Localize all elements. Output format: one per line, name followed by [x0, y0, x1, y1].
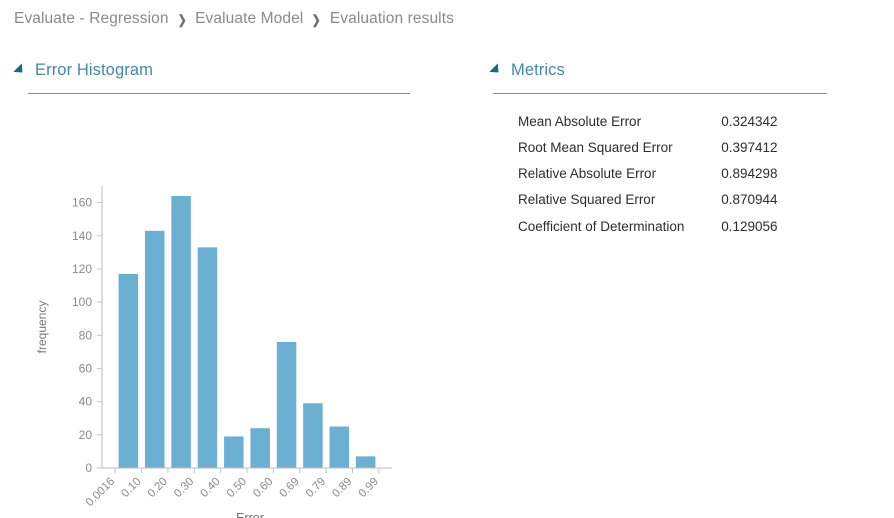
histogram-bar: [145, 231, 165, 468]
histogram-bars: [119, 196, 376, 468]
metrics-row: Relative Absolute Error0.894298: [518, 161, 830, 187]
x-tick-label: 0.0016: [84, 476, 117, 509]
y-tick-label: 20: [79, 428, 93, 442]
error-histogram-chart: frequency 020406080100120140160 0.00160.…: [14, 98, 414, 518]
histogram-bar: [171, 196, 191, 468]
metric-value: 0.129056: [721, 213, 830, 239]
x-tick-label: 0.50: [225, 476, 249, 500]
histogram-bar: [330, 427, 350, 468]
metrics-row: Mean Absolute Error0.324342: [518, 108, 830, 134]
histogram-bar: [250, 428, 270, 468]
error-histogram-header[interactable]: Error Histogram: [14, 58, 414, 82]
metrics-panel: Metrics Mean Absolute Error0.324342Root …: [490, 58, 830, 239]
y-tick-label: 100: [72, 295, 92, 309]
metric-label: Root Mean Squared Error: [518, 134, 721, 160]
x-tick-label: 0.89: [330, 476, 354, 500]
y-tick-label: 60: [79, 361, 93, 375]
breadcrumb: Evaluate - Regression ❯ Evaluate Model ❯…: [14, 6, 454, 32]
x-tick-label: 0.10: [119, 476, 143, 500]
breadcrumb-separator-icon: ❯: [312, 12, 321, 27]
caret-collapse-icon[interactable]: [13, 63, 26, 76]
y-tick-label: 140: [72, 229, 92, 243]
y-tick-label: 80: [79, 328, 93, 342]
panel-divider: [493, 93, 827, 94]
metric-value: 0.870944: [721, 187, 830, 213]
x-tick-label: 0.69: [278, 476, 302, 500]
metric-value: 0.324342: [721, 108, 830, 134]
histogram-bar: [198, 247, 218, 468]
y-axis-ticks: 020406080100120140160: [72, 196, 102, 475]
y-tick-label: 160: [72, 196, 92, 210]
histogram-bar: [356, 456, 376, 468]
x-axis-title: Error: [236, 511, 264, 518]
x-tick-label: 0.40: [198, 476, 222, 500]
y-axis-title: frequency: [35, 301, 49, 354]
x-axis-ticks: 0.00160.100.200.300.400.500.600.690.790.…: [84, 468, 381, 509]
y-tick-label: 0: [85, 461, 92, 475]
y-tick-label: 120: [72, 262, 92, 276]
metrics-table: Mean Absolute Error0.324342Root Mean Squ…: [518, 108, 830, 239]
metric-label: Coefficient of Determination: [518, 213, 721, 239]
metrics-header[interactable]: Metrics: [490, 58, 830, 82]
x-tick-label: 0.99: [357, 476, 381, 500]
metrics-row: Relative Squared Error0.870944: [518, 187, 830, 213]
x-tick-label: 0.79: [304, 476, 328, 500]
histogram-bar: [303, 403, 323, 468]
metric-label: Relative Squared Error: [518, 187, 721, 213]
metric-label: Relative Absolute Error: [518, 161, 721, 187]
error-histogram-title: Error Histogram: [35, 61, 153, 80]
histogram-bar: [277, 342, 297, 468]
metric-label: Mean Absolute Error: [518, 108, 721, 134]
x-tick-label: 0.30: [172, 476, 196, 500]
metrics-title: Metrics: [511, 61, 565, 80]
metrics-row: Coefficient of Determination0.129056: [518, 213, 830, 239]
caret-collapse-icon[interactable]: [489, 63, 502, 76]
metric-value: 0.894298: [721, 161, 830, 187]
panel-divider: [28, 93, 410, 94]
y-tick-label: 40: [79, 395, 93, 409]
metrics-row: Root Mean Squared Error0.397412: [518, 134, 830, 160]
breadcrumb-item-3[interactable]: Evaluation results: [330, 10, 454, 28]
x-tick-label: 0.20: [146, 476, 170, 500]
metric-value: 0.397412: [721, 134, 830, 160]
x-tick-label: 0.60: [251, 476, 275, 500]
breadcrumb-item-1[interactable]: Evaluate - Regression: [14, 10, 169, 28]
breadcrumb-item-2[interactable]: Evaluate Model: [195, 10, 303, 28]
svg-text:frequency: frequency: [35, 301, 49, 354]
error-histogram-panel: Error Histogram frequency 02040608010012…: [14, 58, 414, 94]
histogram-bar: [119, 274, 139, 468]
histogram-bar: [224, 436, 244, 468]
breadcrumb-separator-icon: ❯: [177, 12, 186, 27]
